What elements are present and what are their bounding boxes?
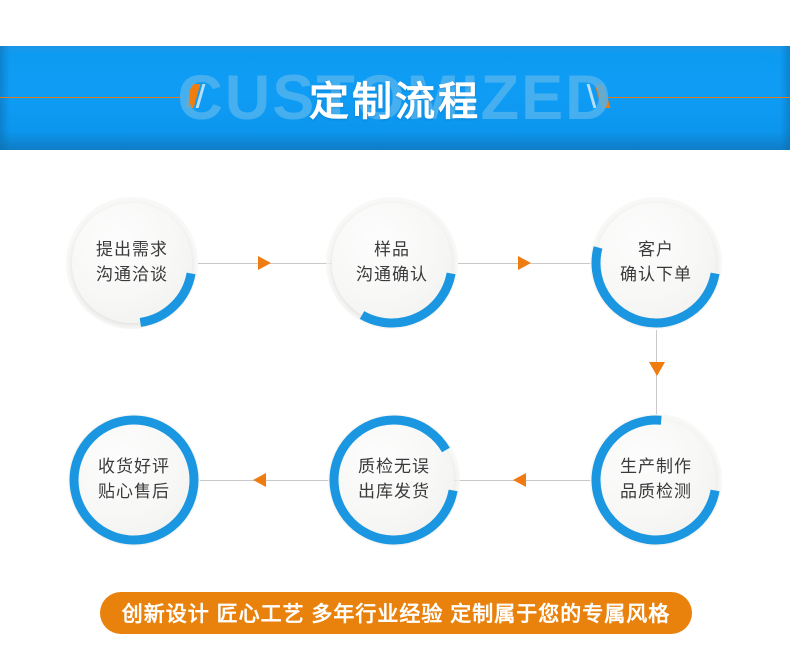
process-node-1[interactable]: 提出需求 沟通洽谈 — [66, 197, 198, 329]
customized-process-infographic: CUSTOMIZED 定制流程 提出需求 沟通洽谈 — [0, 0, 790, 666]
process-flow: 提出需求 沟通洽谈 样品 沟通确认 客户 确认下单 — [0, 150, 790, 570]
arrow-node1-node2-icon — [258, 256, 271, 270]
process-node-3[interactable]: 客户 确认下单 — [590, 197, 722, 329]
node-3-label: 客户 确认下单 — [590, 197, 722, 329]
process-node-4[interactable]: 生产制作 品质检测 — [590, 414, 722, 546]
connector-node2-node3 — [458, 263, 604, 264]
node-5-label: 质检无误 出库发货 — [328, 414, 460, 546]
node-2-line-1: 样品 — [374, 238, 410, 263]
node-1-line-2: 沟通洽谈 — [96, 263, 168, 288]
node-2-label: 样品 沟通确认 — [326, 197, 458, 329]
page-title: 定制流程 — [0, 46, 790, 150]
process-node-5[interactable]: 质检无误 出库发货 — [328, 414, 460, 546]
node-2-line-2: 沟通确认 — [356, 263, 428, 288]
node-4-line-2: 品质检测 — [620, 480, 692, 505]
arrow-node5-node6-icon — [253, 473, 266, 487]
node-6-line-2: 贴心售后 — [98, 480, 170, 505]
node-6-label: 收货好评 贴心售后 — [68, 414, 200, 546]
node-1-label: 提出需求 沟通洽谈 — [66, 197, 198, 329]
arrow-node3-node4-icon — [649, 362, 665, 376]
arrow-node4-node5-icon — [513, 473, 526, 487]
node-5-line-1: 质检无误 — [358, 455, 430, 480]
node-6-line-1: 收货好评 — [98, 455, 170, 480]
node-5-line-2: 出库发货 — [358, 480, 430, 505]
node-3-line-2: 确认下单 — [620, 263, 692, 288]
process-node-6[interactable]: 收货好评 贴心售后 — [68, 414, 200, 546]
node-4-label: 生产制作 品质检测 — [590, 414, 722, 546]
arrow-node2-node3-icon — [518, 256, 531, 270]
connector-node1-node2 — [198, 263, 344, 264]
node-3-line-1: 客户 — [638, 238, 674, 263]
tagline-text: 创新设计 匠心工艺 多年行业经验 定制属于您的专属风格 — [122, 598, 671, 628]
tagline-banner: 创新设计 匠心工艺 多年行业经验 定制属于您的专属风格 — [100, 592, 692, 634]
process-node-2[interactable]: 样品 沟通确认 — [326, 197, 458, 329]
node-4-line-1: 生产制作 — [620, 455, 692, 480]
node-1-line-1: 提出需求 — [96, 238, 168, 263]
